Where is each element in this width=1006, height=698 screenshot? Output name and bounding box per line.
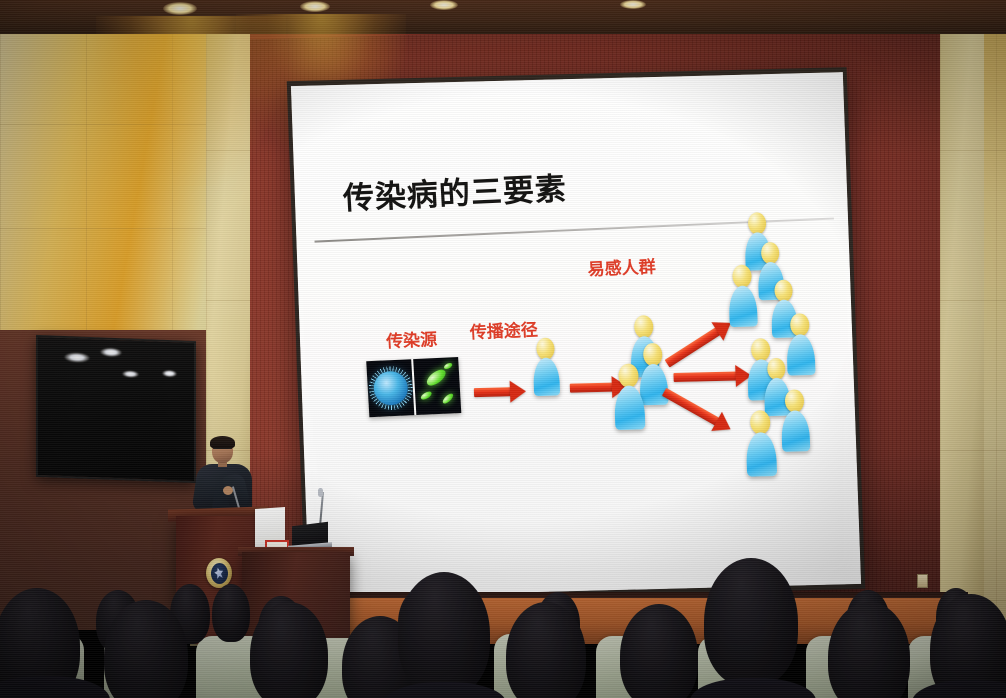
wall-display[interactable] bbox=[36, 335, 196, 483]
arrow-group-to-crowd-lower bbox=[659, 382, 740, 441]
person-body bbox=[746, 432, 778, 477]
person-head bbox=[748, 212, 767, 234]
audience-head bbox=[620, 604, 698, 698]
person-body bbox=[786, 334, 815, 376]
bacterium-4 bbox=[443, 362, 453, 371]
glasses-icon bbox=[213, 448, 232, 452]
arrow-source-to-person bbox=[474, 380, 527, 403]
slide-title: 传染病的三要素 bbox=[342, 163, 568, 218]
display-reflection-4 bbox=[162, 370, 177, 378]
screen-surface: 传染病的三要素 传染源 传播途径 易感人群 bbox=[291, 72, 861, 598]
audience-shoulders bbox=[690, 678, 816, 698]
virus-particle bbox=[372, 370, 408, 406]
ceiling bbox=[0, 0, 1006, 34]
person-head bbox=[634, 315, 654, 338]
person-head bbox=[767, 358, 786, 380]
person-head bbox=[785, 389, 805, 412]
label-source-of-infection: 传染源 bbox=[385, 325, 437, 352]
ceiling-light-3 bbox=[430, 0, 458, 10]
ceiling-light-4 bbox=[620, 0, 646, 9]
person-head bbox=[790, 313, 810, 336]
person-head bbox=[536, 338, 555, 360]
person-body bbox=[728, 285, 757, 327]
bacteria-micrograph bbox=[413, 357, 461, 415]
audience-head bbox=[828, 602, 910, 698]
projection-screen: 传染病的三要素 传染源 传播途径 易感人群 bbox=[287, 67, 866, 603]
person-head bbox=[774, 280, 793, 302]
audience-shoulders bbox=[0, 676, 110, 698]
audience-head bbox=[250, 602, 328, 698]
display-reflection-2 bbox=[100, 347, 122, 357]
microphone-icon bbox=[318, 488, 323, 497]
ceiling-light-2 bbox=[300, 1, 330, 12]
arrow-group-to-crowd-upper bbox=[661, 312, 740, 373]
person-body bbox=[781, 410, 810, 452]
bacterium-3 bbox=[441, 392, 455, 405]
ceiling-light-1 bbox=[163, 2, 197, 15]
display-reflection-3 bbox=[122, 370, 139, 378]
label-susceptible-population: 易感人群 bbox=[587, 252, 656, 280]
person-body bbox=[533, 357, 560, 396]
crowd-c-person-2 bbox=[780, 389, 810, 452]
bacterium-2 bbox=[420, 390, 433, 401]
pillar-tile-grid-right bbox=[940, 0, 984, 640]
audience-head bbox=[398, 572, 490, 696]
person-head bbox=[618, 363, 639, 387]
crowd-b-person-2 bbox=[785, 313, 815, 376]
person-head bbox=[643, 343, 663, 366]
display-reflection-1 bbox=[64, 352, 90, 363]
audience-shoulders bbox=[912, 680, 1006, 698]
stage-pillar-right bbox=[940, 0, 984, 640]
slide: 传染病的三要素 传染源 传播途径 易感人群 bbox=[291, 72, 861, 598]
transmission-person bbox=[532, 337, 560, 396]
micrograph-pair bbox=[366, 357, 461, 417]
audience-silhouettes bbox=[0, 560, 1006, 698]
crowd-c-person-3 bbox=[745, 410, 777, 477]
crowd-a-person-3 bbox=[728, 264, 758, 327]
audience-head bbox=[212, 584, 250, 642]
label-transmission-route: 传播途径 bbox=[469, 315, 538, 343]
person-head bbox=[761, 242, 780, 264]
arrow-group-to-crowd-middle bbox=[673, 365, 754, 389]
bacterium-1 bbox=[424, 367, 448, 389]
virus-micrograph bbox=[366, 359, 414, 417]
infected-group-person-3 bbox=[613, 363, 645, 430]
audience-head bbox=[704, 558, 798, 686]
person-head bbox=[750, 410, 771, 434]
person-body bbox=[614, 385, 646, 430]
lecture-hall-photo: 传染病的三要素 传染源 传播途径 易感人群 bbox=[0, 0, 1006, 698]
person-head bbox=[732, 265, 752, 288]
